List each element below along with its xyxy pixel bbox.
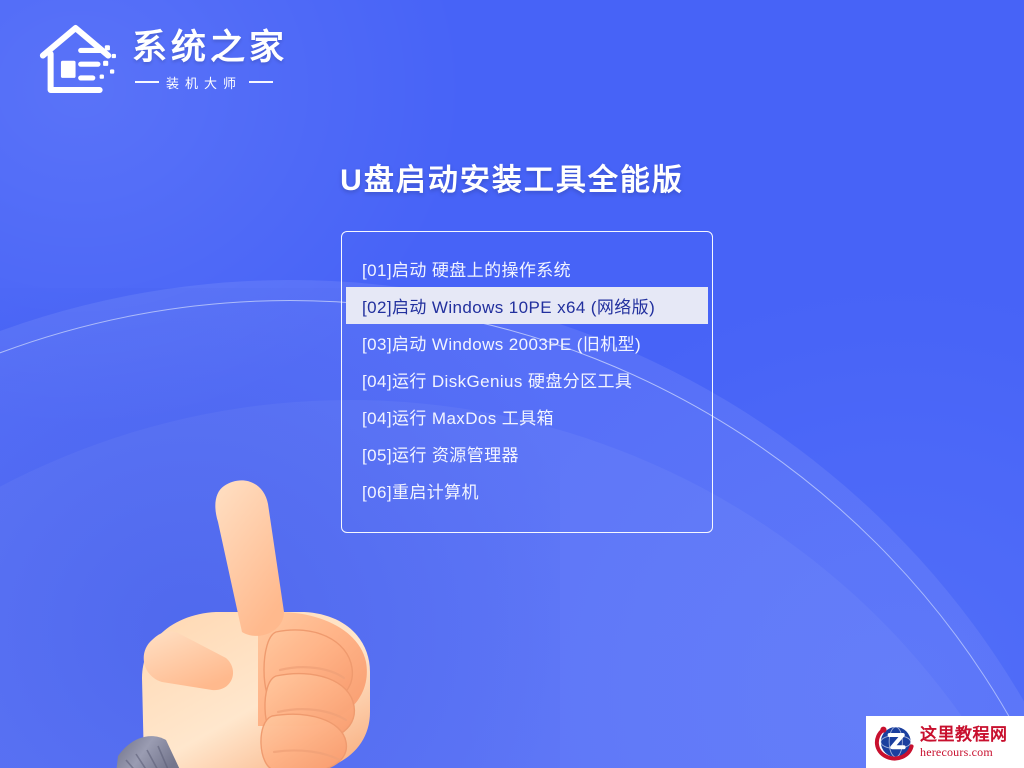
boot-menu-screen: 系统之家 装机大师 U盘启动安装工具全能版 [01]启动 硬盘上的操作系统[02… <box>0 0 1024 768</box>
brand-logo: 系统之家 装机大师 <box>36 16 288 102</box>
boot-menu-item[interactable]: [01]启动 硬盘上的操作系统 <box>346 250 708 287</box>
watermark: 这里教程网 herecours.com <box>866 716 1024 768</box>
boot-menu-item[interactable]: [03]启动 Windows 2003PE (旧机型) <box>346 324 708 361</box>
brand-name: 系统之家 <box>132 30 288 67</box>
brand-subtitle-row: 装机大师 <box>132 73 288 92</box>
brand-text-block: 系统之家 装机大师 <box>132 26 288 92</box>
globe-z-logo-icon <box>872 720 916 764</box>
watermark-text: 这里教程网 herecours.com <box>920 726 1008 758</box>
boot-menu-item[interactable]: [04]运行 DiskGenius 硬盘分区工具 <box>346 361 708 398</box>
subtitle-dash-right <box>249 81 273 83</box>
house-logo-icon <box>36 16 122 102</box>
watermark-site-url: herecours.com <box>920 746 1008 759</box>
page-title: U盘启动安装工具全能版 <box>0 155 1024 199</box>
boot-menu-item[interactable]: [02]启动 Windows 10PE x64 (网络版) <box>346 287 708 324</box>
subtitle-dash-left <box>135 81 159 83</box>
watermark-site-name: 这里教程网 <box>920 726 1008 744</box>
pointing-hand-icon <box>108 464 438 768</box>
brand-subtitle: 装机大师 <box>166 73 242 92</box>
boot-menu-item[interactable]: [04]运行 MaxDos 工具箱 <box>346 398 708 435</box>
